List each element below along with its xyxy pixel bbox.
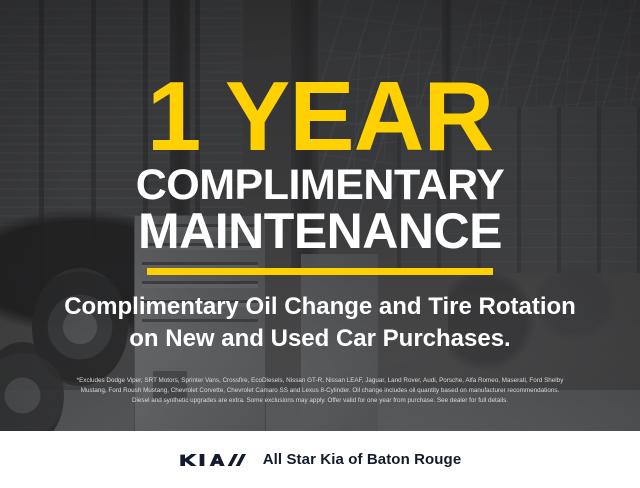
legal-disclaimer: *Excludes Dodge Viper, SRT Motors, Sprin… bbox=[12, 376, 628, 407]
dealer-name-label: All Star Kia of Baton Rouge bbox=[263, 451, 462, 468]
subheadline-line-1: Complimentary Oil Change and Tire Rotati… bbox=[64, 293, 576, 320]
disclaimer-line-3: Diesel and synthetic upgrades are extra.… bbox=[12, 396, 628, 406]
yellow-divider-rule bbox=[147, 268, 493, 275]
dealer-footer-bar: All Star Kia of Baton Rouge bbox=[0, 431, 640, 488]
headline-complimentary: COMPLIMENTARY bbox=[136, 164, 505, 208]
banner-content: 1 YEAR COMPLIMENTARY MAINTENANCE Complim… bbox=[0, 0, 640, 488]
subheadline-line-2: on New and Used Car Purchases. bbox=[129, 325, 510, 352]
promotional-banner: 1 YEAR COMPLIMENTARY MAINTENANCE Complim… bbox=[0, 0, 640, 488]
disclaimer-line-2: Mustang, Ford Roush Mustang, Chevrolet C… bbox=[12, 386, 628, 396]
disclaimer-line-1: *Excludes Dodge Viper, SRT Motors, Sprin… bbox=[12, 376, 628, 386]
kia-logo-icon bbox=[179, 450, 247, 470]
headline-maintenance: MAINTENANCE bbox=[138, 206, 502, 257]
headline-primary-offer: 1 YEAR bbox=[147, 74, 493, 158]
subheadline: Complimentary Oil Change and Tire Rotati… bbox=[64, 291, 576, 354]
